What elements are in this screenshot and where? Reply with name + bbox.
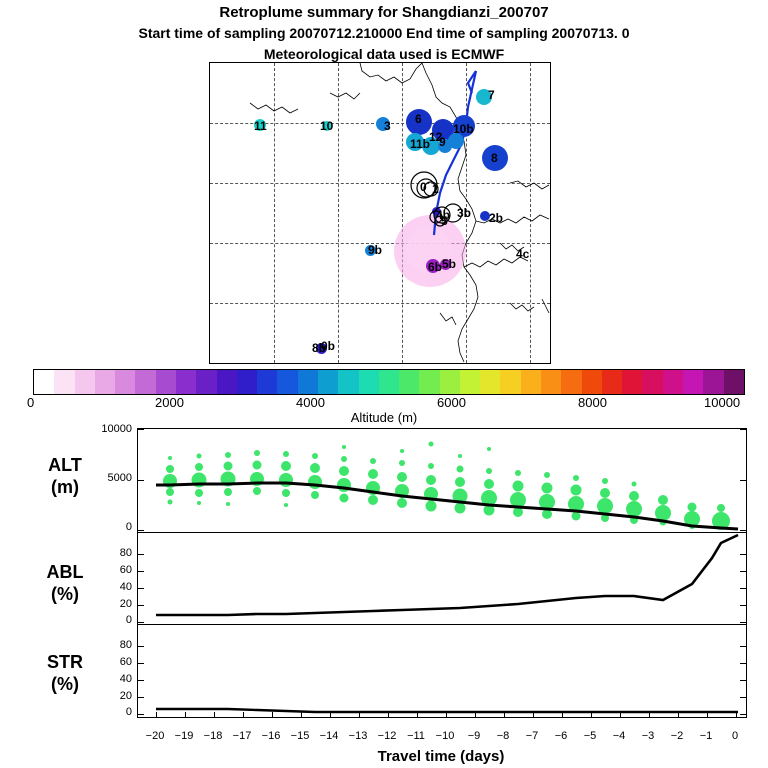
colorbar-swatch	[703, 370, 723, 394]
alt-panel	[137, 428, 747, 534]
colorbar-swatch	[318, 370, 338, 394]
colorbar-swatch	[399, 370, 419, 394]
map-point-label: 3	[384, 119, 391, 133]
map-point-label: 6b	[428, 260, 442, 274]
colorbar-swatch	[277, 370, 297, 394]
abl-ytick-0: 0	[86, 614, 132, 626]
abl-ytick-60: 60	[86, 564, 132, 576]
colorbar-swatch	[541, 370, 561, 394]
colorbar-swatch	[176, 370, 196, 394]
str-panel	[137, 624, 747, 718]
alt-ytick-5000: 5000	[86, 472, 132, 484]
colorbar-swatch	[561, 370, 581, 394]
map-point-label: 2b	[489, 211, 503, 225]
str-plot-area	[138, 625, 744, 715]
map-point-label: 9b	[368, 243, 382, 257]
colorbar-swatch	[135, 370, 155, 394]
colorbar-swatch	[338, 370, 358, 394]
map-point-label: 5	[441, 214, 448, 228]
str-ytick-20: 20	[86, 690, 132, 702]
x-tick-label: 0	[715, 730, 755, 742]
colorbar-swatch	[663, 370, 683, 394]
colorbar-swatch	[419, 370, 439, 394]
colorbar-swatch	[379, 370, 399, 394]
abl-ytick-80: 80	[86, 547, 132, 559]
retroplume-map: 11 10 3 6 7 9 10b 8 11b 12 0 1 2b 3b 4b …	[209, 62, 551, 364]
sampling-time-line: Start time of sampling 20070712.210000 E…	[0, 25, 768, 41]
colorbar-swatch	[95, 370, 115, 394]
colorbar-swatch	[34, 370, 54, 394]
colorbar-swatch	[257, 370, 277, 394]
page-title: Retroplume summary for Shangdianzi_20070…	[0, 4, 768, 21]
map-point-label: 6	[415, 112, 422, 126]
abl-ytick-40: 40	[86, 581, 132, 593]
colorbar-swatch	[359, 370, 379, 394]
str-ytick-60: 60	[86, 656, 132, 668]
abl-panel	[137, 532, 747, 626]
colorbar-swatch	[500, 370, 520, 394]
map-point-label: 0b	[321, 339, 335, 353]
map-point-label: 7	[488, 88, 495, 102]
alt-ytick-0: 0	[86, 521, 132, 533]
colorbar-swatch	[54, 370, 74, 394]
str-ytick-0: 0	[86, 706, 132, 718]
map-point-label: 8	[491, 151, 498, 165]
colorbar-tick-6000: 6000	[437, 395, 466, 410]
colorbar-swatch	[622, 370, 642, 394]
met-data-line: Meteorological data used is ECMWF	[0, 46, 768, 62]
alt-plot-area	[138, 429, 744, 531]
colorbar-swatch	[75, 370, 95, 394]
colorbar-swatch	[237, 370, 257, 394]
colorbar-swatch	[480, 370, 500, 394]
colorbar-tick-8000: 8000	[578, 395, 607, 410]
map-point-label: 10b	[453, 122, 474, 136]
colorbar-swatch	[440, 370, 460, 394]
colorbar-swatch	[683, 370, 703, 394]
colorbar-swatch	[582, 370, 602, 394]
colorbar-tick-0: 0	[27, 395, 34, 410]
str-ytick-80: 80	[86, 639, 132, 651]
colorbar-tick-2000: 2000	[155, 395, 184, 410]
alt-ytick-10000: 10000	[86, 423, 132, 435]
altitude-colorbar	[33, 369, 745, 395]
map-point-label: 11	[254, 119, 267, 133]
colorbar-swatch	[196, 370, 216, 394]
map-point-label: 11b	[410, 137, 430, 151]
map-point-label: 10	[320, 119, 333, 133]
colorbar-swatch	[460, 370, 480, 394]
str-ytick-40: 40	[86, 673, 132, 685]
abl-ytick-20: 20	[86, 598, 132, 610]
map-point-label: 5b	[442, 257, 456, 271]
map-point-label: 3b	[457, 206, 471, 220]
colorbar-swatch	[521, 370, 541, 394]
map-point-label: 4c	[516, 247, 529, 261]
colorbar-swatch	[724, 370, 744, 394]
colorbar-swatch	[217, 370, 237, 394]
colorbar-swatch	[156, 370, 176, 394]
colorbar-swatch	[602, 370, 622, 394]
colorbar-swatch	[642, 370, 662, 394]
colorbar-tick-10000: 10000	[704, 395, 740, 410]
map-point-label: 1	[432, 182, 439, 196]
colorbar-tick-4000: 4000	[296, 395, 325, 410]
map-point-label: 0	[420, 180, 427, 194]
colorbar-swatch	[298, 370, 318, 394]
abl-plot-area	[138, 533, 744, 623]
x-axis-title: Travel time (days)	[137, 748, 745, 765]
colorbar-swatch	[115, 370, 135, 394]
map-point-label: 12	[429, 130, 442, 144]
